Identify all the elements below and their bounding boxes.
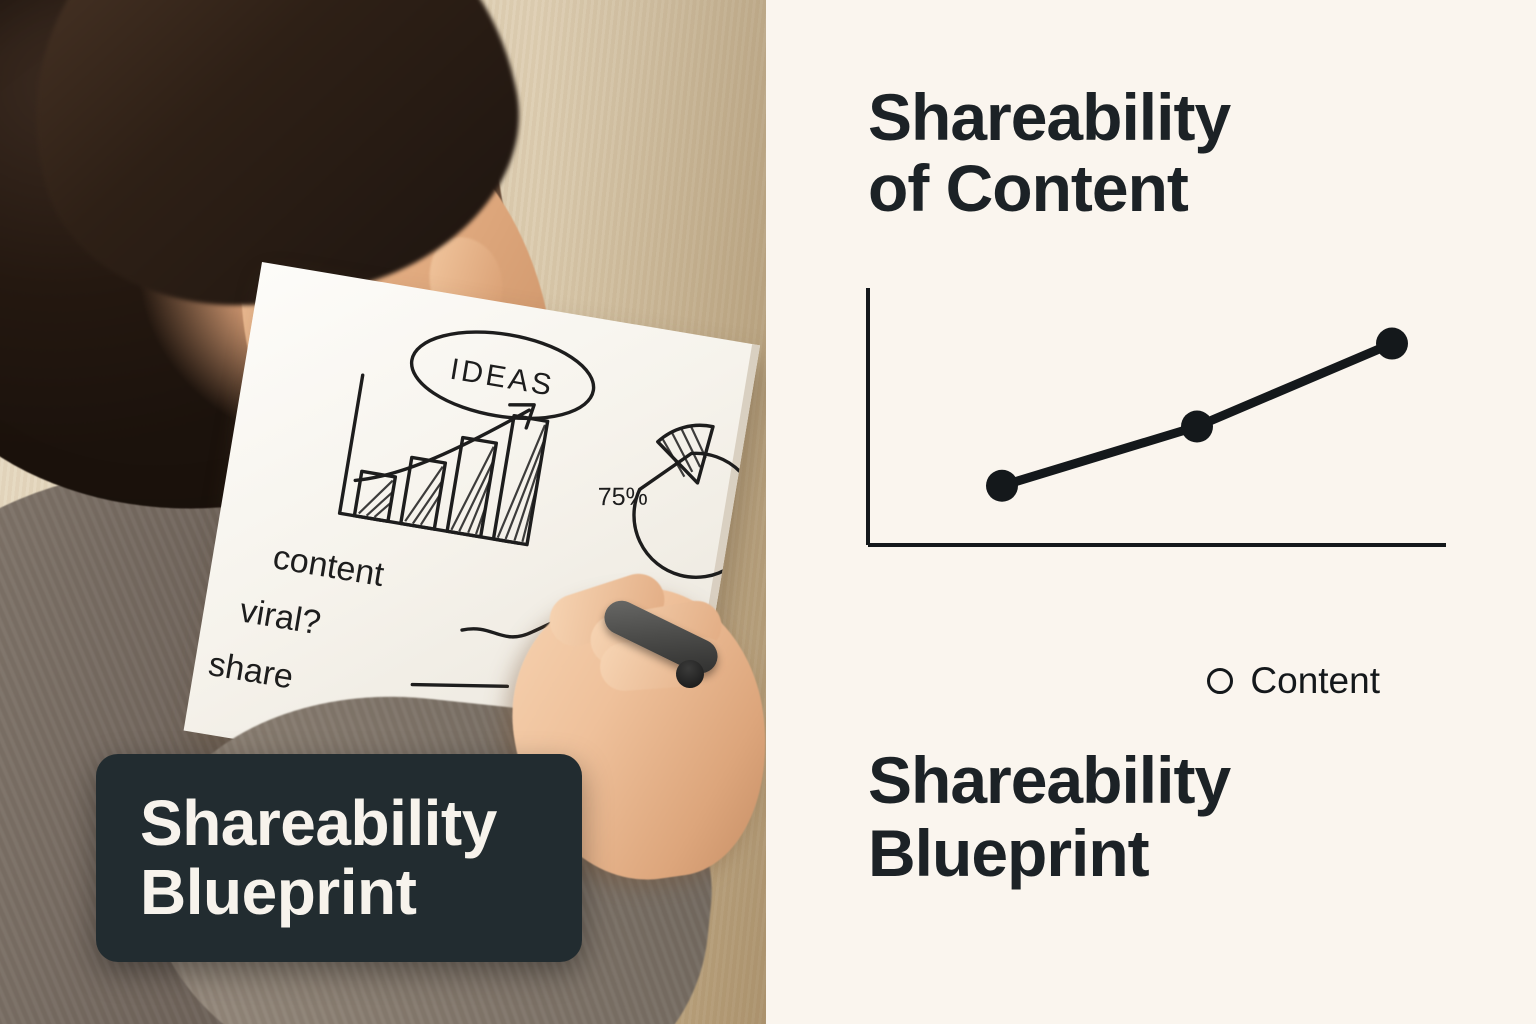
data-point-low[interactable] [986,470,1018,502]
infographic-canvas: IDEAS 75% content viral? share Shareabil… [0,0,1536,1024]
sketch-ideas-label: IDEAS [448,353,557,403]
photo-panel: IDEAS 75% content viral? share Shareabil… [0,0,766,1024]
footer-title-line1: Shareability [868,744,1528,817]
sketch-note-content: content [270,538,387,594]
chart-panel: Shareability of Content Low Medium High … [766,0,1536,1024]
sketch-note-share: share [206,645,296,697]
sketch-note-viral: viral? [237,591,323,642]
data-point-medium[interactable] [1181,411,1213,443]
data-point-high[interactable] [1376,328,1408,360]
chart-legend: Content [766,660,1466,702]
footer-title: Shareability Blueprint [868,744,1528,889]
badge-title-line1: Shareability [140,789,538,858]
chart-title-line1: Shareability [868,82,1508,153]
chart-title: Shareability of Content [868,82,1508,225]
line-chart: Low Medium High [862,286,1454,554]
legend-label-content: Content [1250,660,1380,702]
chart-title-line2: of Content [868,153,1508,224]
sketch-pie-label: 75% [598,483,648,511]
badge-title-line2: Blueprint [140,858,538,927]
title-badge: Shareability Blueprint [96,754,582,962]
footer-title-line2: Blueprint [868,817,1528,890]
legend-circle-icon [1207,668,1233,694]
sketch-rule-1 [412,671,507,700]
